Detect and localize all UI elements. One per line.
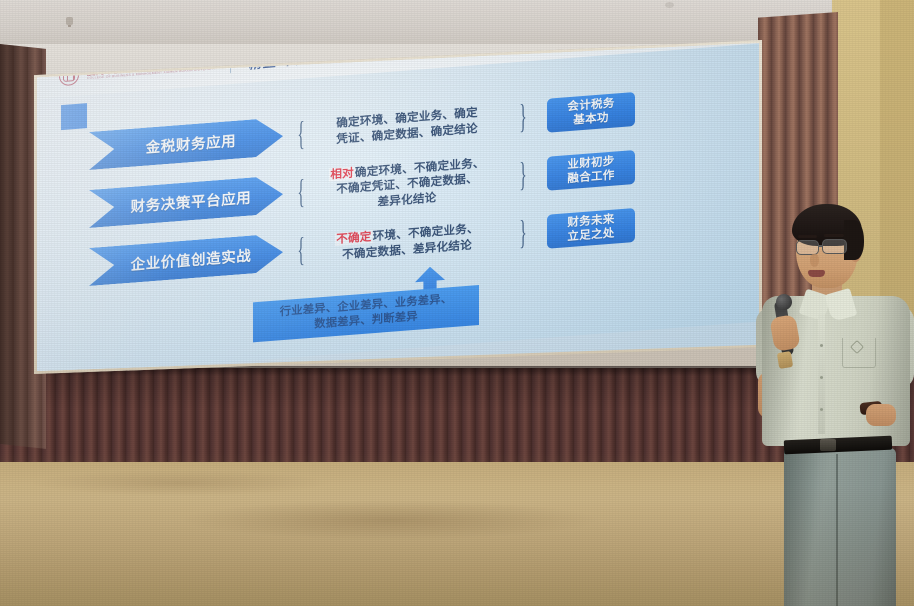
eyeglasses-bridge bbox=[818, 245, 823, 247]
right-brace-icon bbox=[519, 210, 531, 257]
stage-chevron: 企业价值创造实战 bbox=[89, 233, 283, 286]
stage-detail: 相对确定环境、不确定业务、 不确定凭证、不确定数据、 差异化结论 bbox=[309, 154, 505, 216]
highlight-term: 不确定 bbox=[335, 231, 372, 247]
summary-banner: 行业差异、企业差异、业务差异、 数据差异、判断差异 bbox=[253, 285, 479, 342]
stage-label: 财务决策平台应用 bbox=[121, 186, 252, 217]
smoke-detector-icon bbox=[66, 17, 73, 25]
stage-detail: 确定环境、确定业务、确定 凭证、确定数据、确定结论 bbox=[309, 103, 505, 149]
stage-outcome-badge: 业财初步 融合工作 bbox=[547, 150, 635, 191]
eyeglasses-lens-right bbox=[822, 239, 847, 254]
microphone-grip bbox=[777, 351, 793, 369]
stage-chevron: 金税财务应用 bbox=[89, 117, 283, 170]
floor-shadow bbox=[180, 500, 600, 540]
projection-screen-frame: 厦门华厦学院商务与管理学院 COLLEGE OF BUSINESS & MANA… bbox=[34, 40, 762, 374]
presenter-hand-holding-clicker bbox=[866, 404, 896, 426]
eyeglasses-lens-left bbox=[796, 240, 819, 255]
stage-label: 企业价值创造实战 bbox=[121, 244, 252, 275]
presenter-hair-side bbox=[844, 220, 864, 260]
stage-outcome-badge: 财务未来 立足之处 bbox=[547, 208, 635, 249]
belt-buckle bbox=[820, 439, 836, 451]
slide-surface: 厦门华厦学院商务与管理学院 COLLEGE OF BUSINESS & MANA… bbox=[37, 43, 759, 371]
presenter-mouth bbox=[808, 270, 825, 277]
left-brace-icon bbox=[297, 169, 309, 216]
projection-screen: 厦门华厦学院商务与管理学院 COLLEGE OF BUSINESS & MANA… bbox=[37, 43, 759, 371]
stage-outcome-label: 财务未来 立足之处 bbox=[567, 212, 614, 244]
presenter-nose bbox=[810, 254, 819, 267]
highlight-term: 相对 bbox=[329, 166, 355, 181]
presentation-room-photo: 厦门华厦学院商务与管理学院 COLLEGE OF BUSINESS & MANA… bbox=[0, 0, 914, 606]
stage-outcome-badge: 会计税务 基本功 bbox=[547, 92, 635, 133]
stage-label: 金税财务应用 bbox=[136, 129, 237, 158]
stage-outcome-label: 会计税务 基本功 bbox=[567, 96, 614, 128]
slide-rows: 金税财务应用 确定环境、确定业务、确定 凭证、确定数据、确定结论 会计税务 基本… bbox=[37, 71, 759, 301]
presenter-eyebrow-right bbox=[824, 234, 844, 237]
presenter bbox=[756, 196, 914, 606]
summary-banner-text: 行业差异、企业差异、业务差异、 数据差异、判断差异 bbox=[280, 292, 452, 336]
slide-canvas: 厦门华厦学院商务与管理学院 COLLEGE OF BUSINESS & MANA… bbox=[37, 43, 759, 371]
ceiling-spotlight bbox=[665, 2, 674, 8]
stage-detail: 不确定环境、不确定业务、 不确定数据、差异化结论 bbox=[309, 219, 505, 265]
left-brace-icon bbox=[297, 111, 309, 158]
right-brace-icon bbox=[519, 94, 531, 141]
presenter-eyebrow-left bbox=[798, 235, 817, 238]
stage-outcome-label: 业财初步 融合工作 bbox=[567, 154, 614, 186]
right-brace-icon bbox=[519, 152, 531, 199]
shirt-placket bbox=[818, 314, 825, 434]
left-brace-icon bbox=[297, 227, 309, 274]
trouser-shading bbox=[784, 448, 896, 606]
floor-shadow-secondary bbox=[30, 470, 330, 496]
stage-chevron: 财务决策平台应用 bbox=[89, 175, 283, 228]
